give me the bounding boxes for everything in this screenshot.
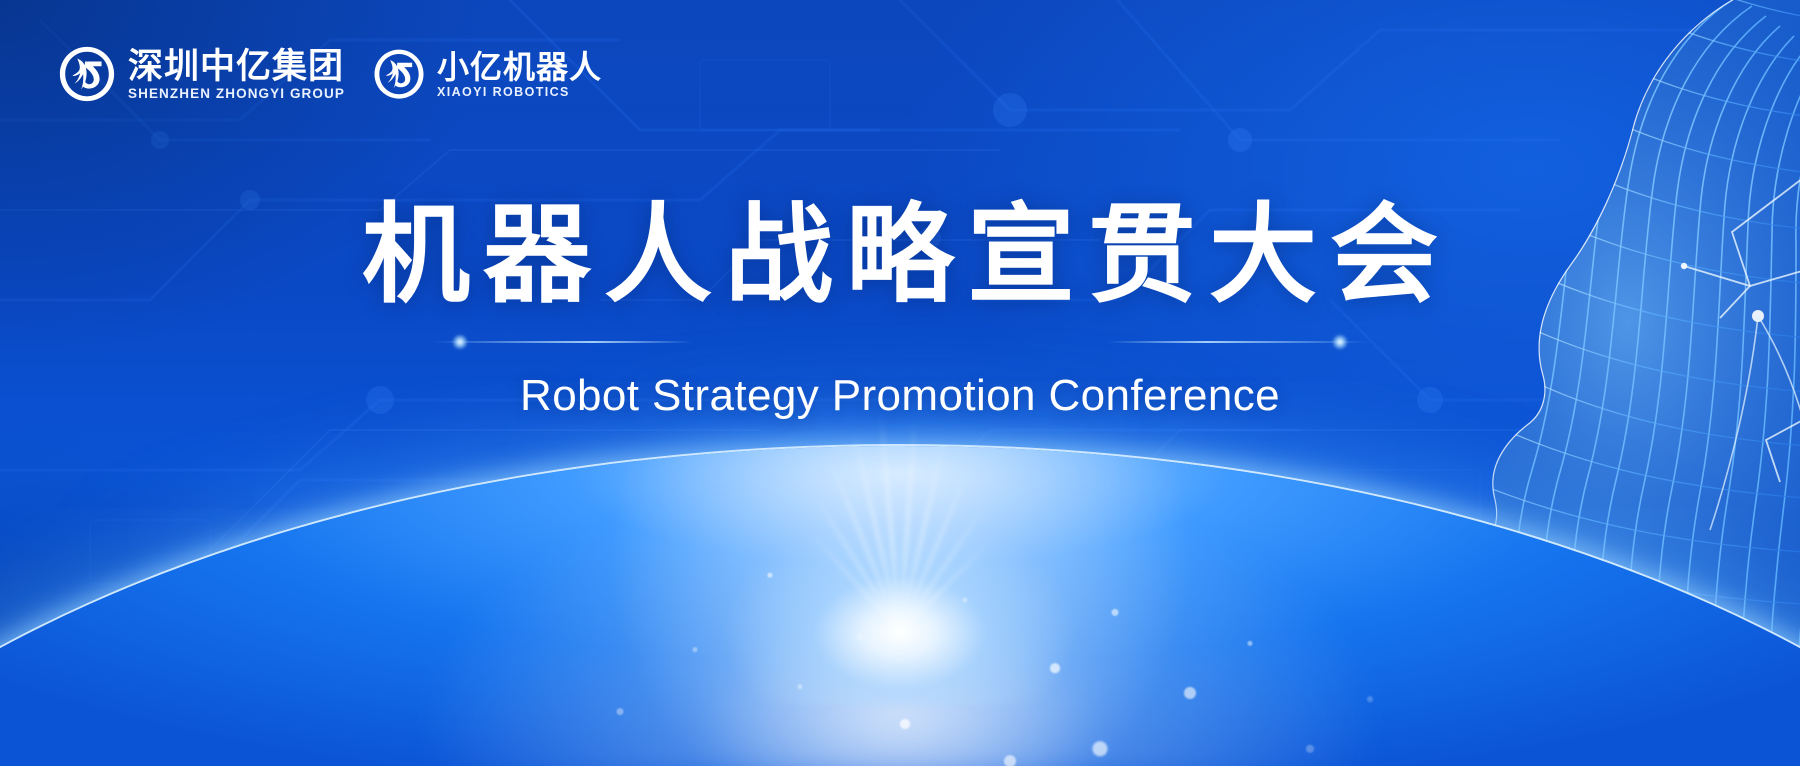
- light-streak-right: [1108, 341, 1368, 343]
- headline-block: 机器人战略宣贯大会 Robot Strategy Promotion Confe…: [0, 196, 1800, 421]
- logo-zhongyi-text: 深圳中亿集团 SHENZHEN ZHONGYI GROUP: [128, 49, 345, 102]
- conference-title-cn: 机器人战略宣贯大会: [0, 196, 1800, 315]
- logo-xiaoyi: 小亿机器人 XIAOYI ROBOTICS: [371, 47, 602, 103]
- conference-title-en: Robot Strategy Promotion Conference: [0, 371, 1800, 421]
- light-spark-right: [1332, 334, 1348, 350]
- logo-zhongyi-name-en: SHENZHEN ZHONGYI GROUP: [128, 86, 345, 101]
- logo-xiaoyi-name-cn: 小亿机器人: [437, 51, 602, 84]
- logo-zhongyi: 深圳中亿集团 SHENZHEN ZHONGYI GROUP: [56, 44, 345, 106]
- xiaoyi-circular-emblem-icon: [371, 47, 427, 103]
- logo-xiaoyi-name-en: XIAOYI ROBOTICS: [437, 85, 602, 99]
- light-spark-left: [452, 334, 468, 350]
- earth-city-lights: [200, 476, 1700, 766]
- logo-xiaoyi-text: 小亿机器人 XIAOYI ROBOTICS: [437, 51, 602, 100]
- title-divider: [0, 329, 1800, 355]
- logo-zhongyi-name-cn: 深圳中亿集团: [128, 49, 345, 85]
- conference-banner: 深圳中亿集团 SHENZHEN ZHONGYI GROUP 小亿机器人 XIAO…: [0, 0, 1800, 766]
- light-streak-left: [432, 341, 692, 343]
- zhongyi-circular-emblem-icon: [56, 44, 118, 106]
- logo-lockup: 深圳中亿集团 SHENZHEN ZHONGYI GROUP 小亿机器人 XIAO…: [56, 44, 602, 106]
- earth-horizon: [0, 446, 1800, 766]
